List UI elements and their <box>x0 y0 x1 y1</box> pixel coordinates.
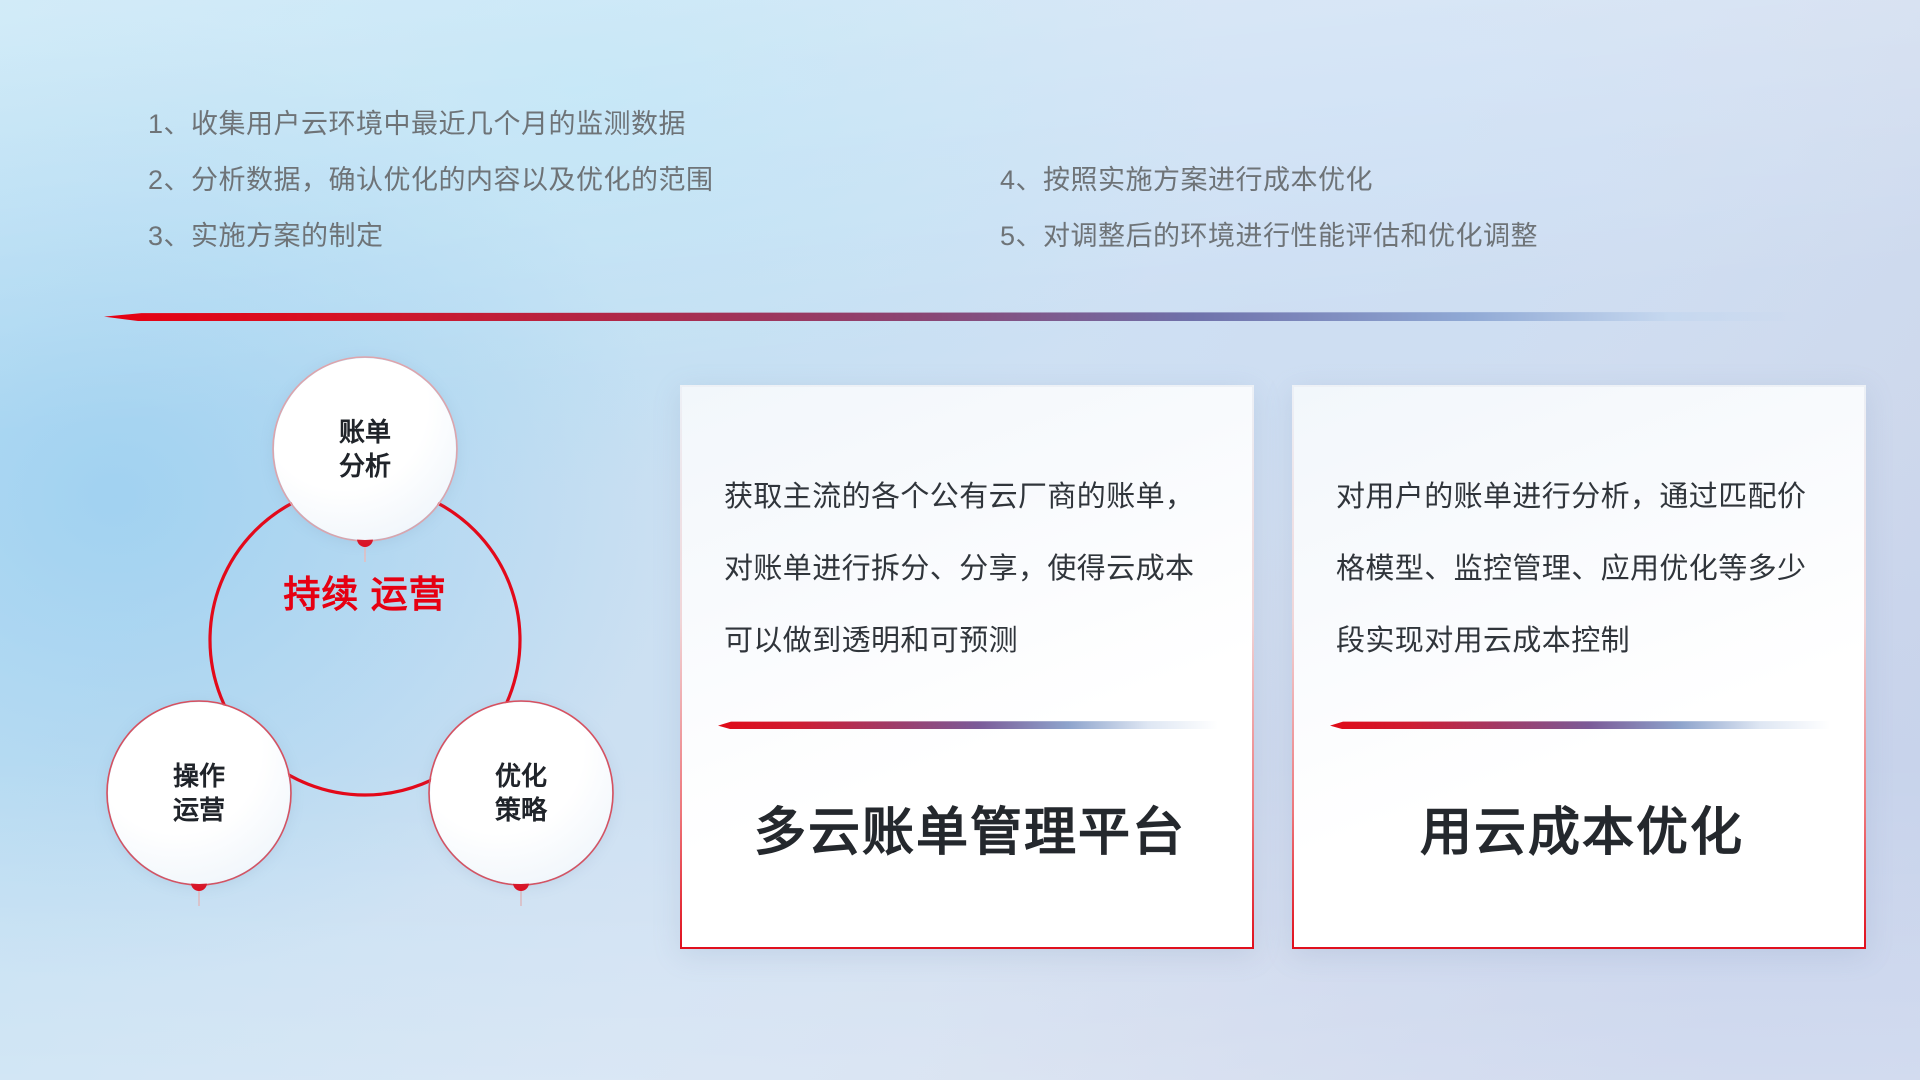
section-divider <box>104 312 1804 321</box>
card-inner: 对用户的账单进行分析，通过匹配价格模型、监控管理、应用优化等多少段实现对用云成本… <box>1294 387 1864 947</box>
card-divider-gradient <box>718 721 1218 729</box>
diagram-center-label: 持续 运营 <box>280 572 450 617</box>
process-step-5: 5、对调整后的环境进行性能评估和优化调整 <box>1000 208 1538 264</box>
diagram-node-operations[interactable]: 操作 运营 <box>108 702 290 884</box>
diagram-node-optimization-strategy[interactable]: 优化 策略 <box>430 702 612 884</box>
center-label-line2: 运营 <box>371 574 447 615</box>
card-cloud-cost-optimization[interactable]: 对用户的账单进行分析，通过匹配价格模型、监控管理、应用优化等多少段实现对用云成本… <box>1292 385 1866 949</box>
continuous-operations-diagram: 账单 分析 操作 运营 优化 策略 持续 运营 <box>100 350 660 950</box>
diagram-node-bill-analysis[interactable]: 账单 分析 <box>274 358 456 540</box>
process-step-1: 1、收集用户云环境中最近几个月的监测数据 <box>148 96 714 152</box>
center-label-line1: 持续 <box>283 574 359 615</box>
card-description: 获取主流的各个公有云厂商的账单，对账单进行拆分、分享，使得云成本可以做到透明和可… <box>724 461 1212 677</box>
node-label-line2: 运营 <box>173 793 225 827</box>
card-divider <box>1330 721 1830 729</box>
slide-canvas: 1、收集用户云环境中最近几个月的监测数据 2、分析数据，确认优化的内容以及优化的… <box>0 0 1920 1080</box>
process-step-4: 4、按照实施方案进行成本优化 <box>1000 152 1538 208</box>
divider-gradient-wedge <box>104 312 1804 321</box>
card-inner: 获取主流的各个公有云厂商的账单，对账单进行拆分、分享，使得云成本可以做到透明和可… <box>682 387 1252 947</box>
card-description: 对用户的账单进行分析，通过匹配价格模型、监控管理、应用优化等多少段实现对用云成本… <box>1336 461 1824 677</box>
process-list-left: 1、收集用户云环境中最近几个月的监测数据 2、分析数据，确认优化的内容以及优化的… <box>148 96 714 264</box>
card-multicloud-billing-platform[interactable]: 获取主流的各个公有云厂商的账单，对账单进行拆分、分享，使得云成本可以做到透明和可… <box>680 385 1254 949</box>
node-label-line1: 账单 <box>339 415 391 449</box>
card-title: 用云成本优化 <box>1334 802 1830 864</box>
card-title: 多云账单管理平台 <box>722 802 1218 864</box>
node-label-line2: 分析 <box>339 449 391 483</box>
node-label-line1: 操作 <box>173 759 225 793</box>
process-step-2: 2、分析数据，确认优化的内容以及优化的范围 <box>148 152 714 208</box>
card-divider <box>718 721 1218 729</box>
process-list-right: 4、按照实施方案进行成本优化 5、对调整后的环境进行性能评估和优化调整 <box>1000 152 1538 264</box>
card-divider-gradient <box>1330 721 1830 729</box>
node-label-line1: 优化 <box>495 759 547 793</box>
process-step-3: 3、实施方案的制定 <box>148 208 714 264</box>
node-label-line2: 策略 <box>495 793 547 827</box>
